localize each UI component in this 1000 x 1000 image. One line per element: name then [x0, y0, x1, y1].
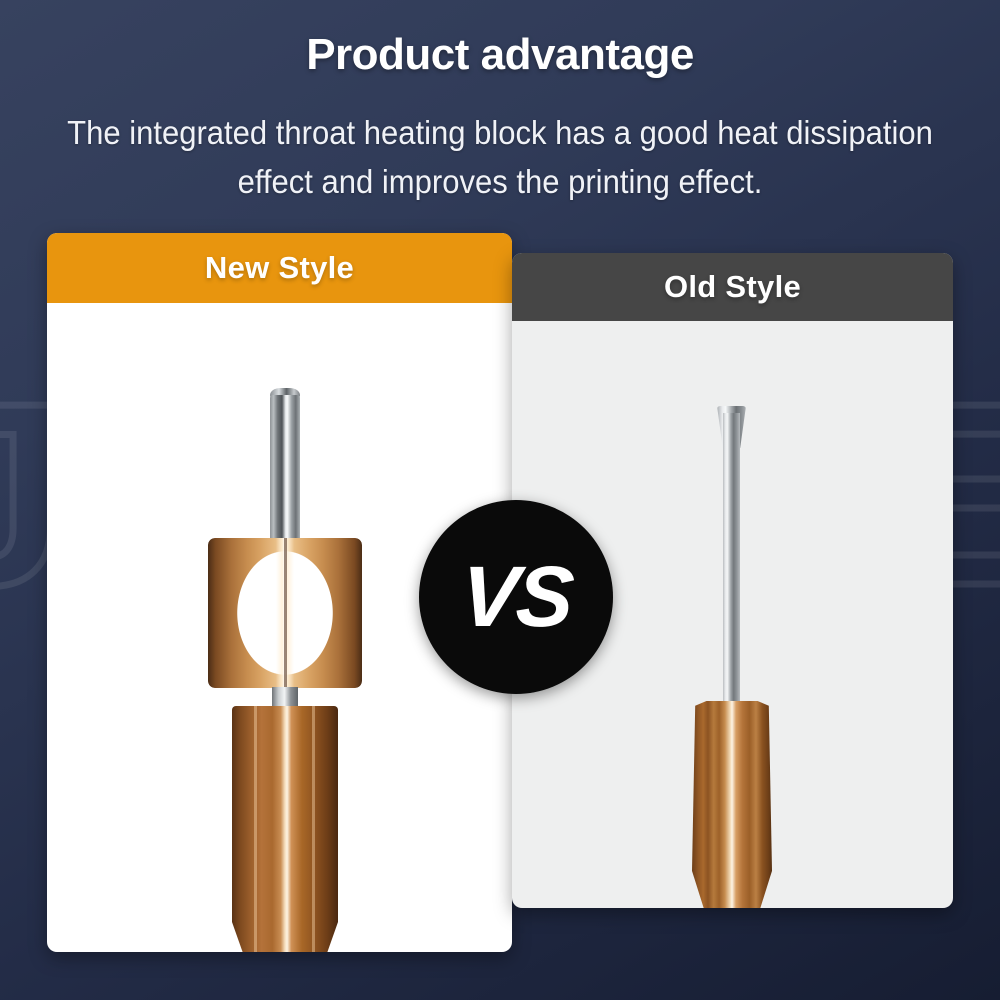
vs-badge: VS: [419, 500, 613, 694]
new-heat-block-icon: [208, 538, 362, 688]
old-throat-tube-icon: [723, 413, 740, 707]
heat-block-seam-icon: [284, 538, 287, 688]
vs-label: VS: [457, 548, 575, 647]
product-advantage-banner: JSPINE Product advantage The integrated …: [0, 0, 1000, 1000]
new-nozzle-body-icon: [232, 706, 338, 952]
heat-block-left-half-icon: [208, 538, 285, 688]
new-throat-tube-icon: [270, 395, 300, 545]
page-title: Product advantage: [0, 30, 1000, 80]
page-subtitle: The integrated throat heating block has …: [49, 108, 951, 206]
old-nozzle-body-icon: [692, 701, 772, 908]
heat-block-right-half-icon: [285, 538, 362, 688]
panel-old-style-label: Old Style: [512, 253, 953, 321]
new-nozzle-left-edge-icon: [254, 706, 257, 952]
new-nozzle-copper-surface-icon: [232, 706, 338, 952]
old-nozzle-copper-surface-icon: [692, 701, 772, 908]
panel-new-style-label: New Style: [47, 233, 512, 303]
new-nozzle-right-edge-icon: [312, 706, 315, 952]
